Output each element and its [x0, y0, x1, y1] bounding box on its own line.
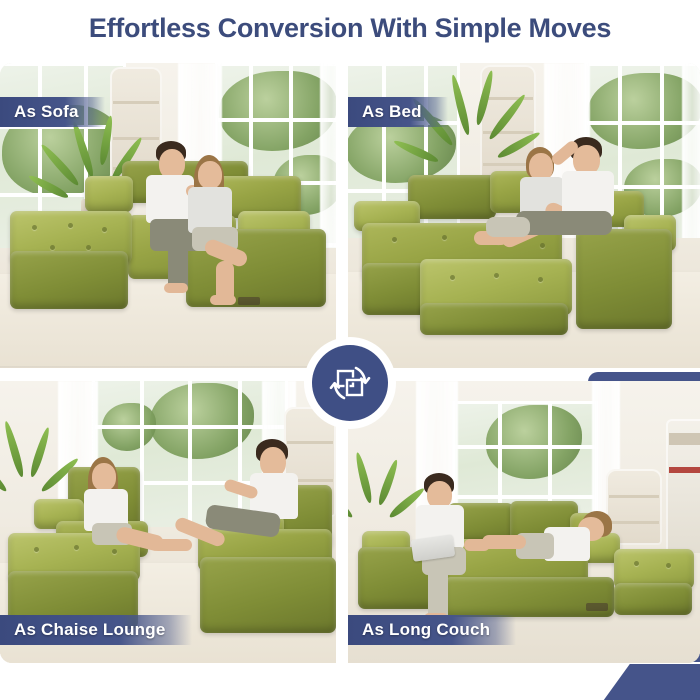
panel-as-bed[interactable]: As Bed — [348, 63, 700, 368]
panel-label-text: As Long Couch — [362, 620, 490, 640]
panel-label-as-bed: As Bed — [348, 97, 448, 127]
ottoman-footrest-base — [420, 303, 568, 335]
person-woman — [182, 155, 254, 305]
panel-as-long-couch[interactable]: As Long Couch — [348, 381, 700, 663]
person-man — [556, 137, 652, 271]
brand-watermark — [586, 603, 608, 611]
couch-ottoman-base — [614, 583, 692, 615]
person-woman-reclining — [498, 509, 618, 579]
panel-label-text: As Bed — [362, 102, 422, 122]
person-man — [222, 439, 332, 579]
bed-base-left — [362, 263, 428, 315]
panel-label-text: As Sofa — [14, 102, 79, 122]
panel-label-as-long-couch: As Long Couch — [348, 615, 516, 645]
page-title-text: Effortless Conversion With Simple Moves — [89, 13, 611, 44]
throw-pillow — [85, 176, 133, 212]
panel-label-as-chaise-lounge: As Chaise Lounge — [0, 615, 192, 645]
convert-badge[interactable] — [304, 337, 396, 429]
bed-backrest — [408, 175, 496, 219]
page-title: Effortless Conversion With Simple Moves — [0, 0, 700, 56]
panel-as-sofa[interactable]: As Sofa — [0, 63, 336, 368]
ottoman-base — [10, 251, 128, 309]
panel-label-as-sofa: As Sofa — [0, 97, 105, 127]
panel-as-chaise-lounge[interactable]: As Chaise Lounge — [0, 381, 336, 663]
convert-rotate-icon — [312, 345, 388, 421]
panel-label-text: As Chaise Lounge — [14, 620, 166, 640]
person-woman — [82, 457, 182, 577]
